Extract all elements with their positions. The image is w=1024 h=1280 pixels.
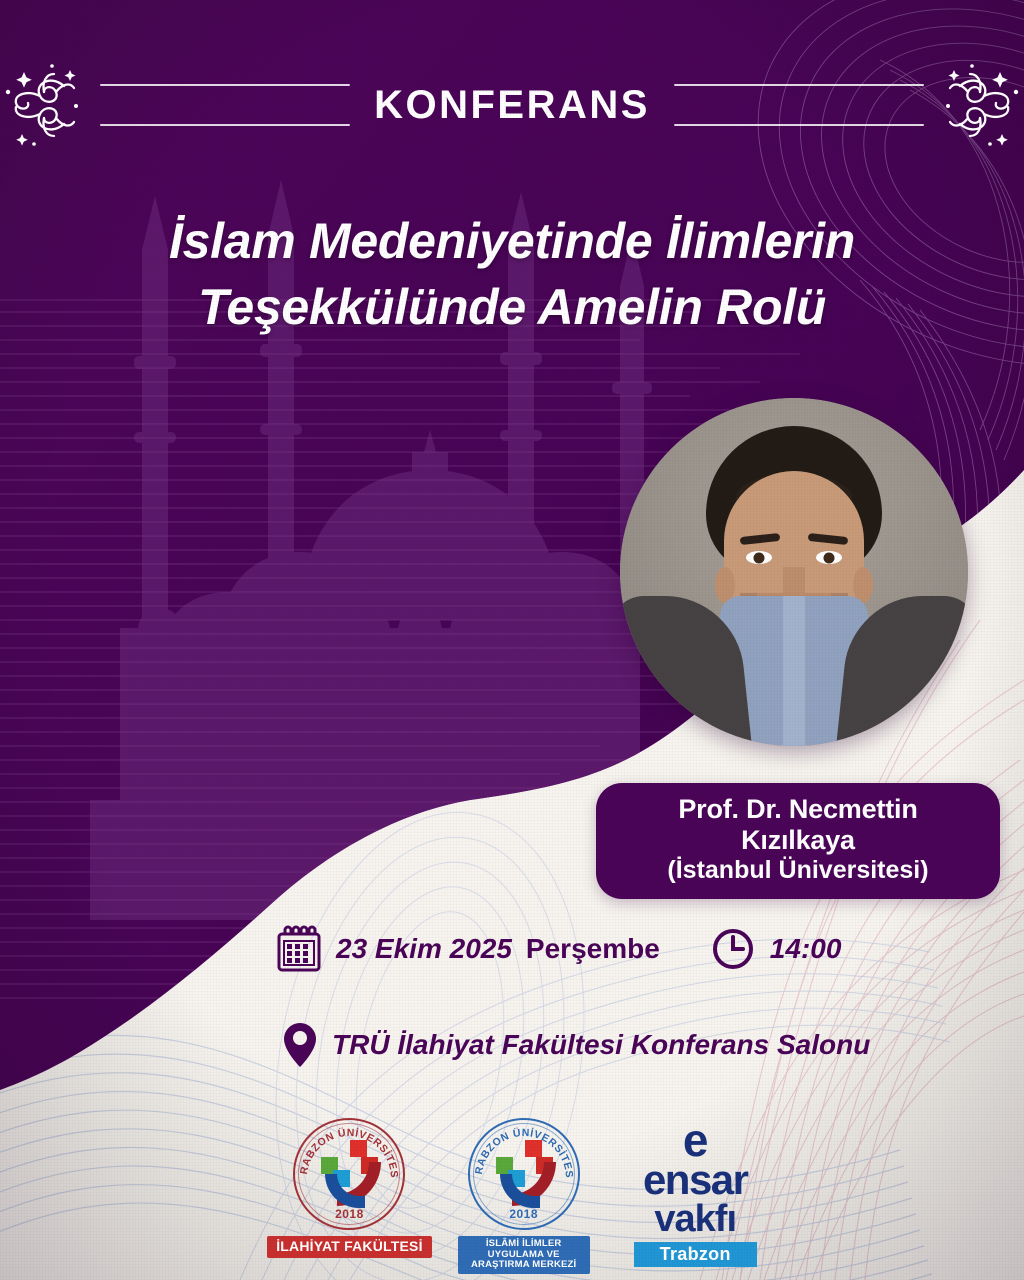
trabzon-emblem bbox=[492, 1140, 556, 1202]
flourish-ornament-icon bbox=[0, 62, 84, 148]
clock-icon bbox=[710, 926, 756, 972]
logo-banner-merkez: İSLÂMİ İLİMLER UYGULAMA VE ARAŞTIRMA MER… bbox=[458, 1236, 590, 1274]
event-weekday: Perşembe bbox=[526, 933, 660, 965]
ensar-mark-icon: e bbox=[683, 1122, 708, 1160]
ensar-name-line2: vakfı bbox=[654, 1200, 736, 1238]
event-time: 14:00 bbox=[770, 933, 842, 965]
ensar-name-line1: ensar bbox=[643, 1160, 748, 1200]
konferans-banner: KONFERANS bbox=[0, 62, 1024, 148]
speaker-name-banner: Prof. Dr. Necmettin Kızılkaya (İstanbul … bbox=[596, 783, 1000, 899]
logo-row: TRABZON ÜNİVERSİTESİ 2018 İLAHİYAT FAKÜL… bbox=[0, 1118, 1024, 1274]
title-line-1: İslam Medeniyetinde İlimlerin bbox=[0, 208, 1024, 274]
konferans-rule-left bbox=[100, 84, 350, 126]
konferans-rule-right bbox=[674, 84, 924, 126]
speaker-portrait bbox=[620, 398, 968, 746]
speaker-affiliation: (İstanbul Üniversitesi) bbox=[620, 856, 976, 886]
flourish-ornament-icon bbox=[940, 62, 1024, 148]
map-pin-icon bbox=[282, 1021, 318, 1069]
trabzon-university-seal: TRABZON ÜNİVERSİTESİ 2018 bbox=[293, 1118, 405, 1230]
logo-banner-line2: UYGULAMA VE ARAŞTIRMA MERKEZİ bbox=[467, 1250, 581, 1271]
venue-row: TRÜ İlahiyat Fakültesi Konferans Salonu bbox=[0, 1021, 1024, 1069]
trabzon-university-seal: TRABZON ÜNİVERSİTESİ 2018 bbox=[468, 1118, 580, 1230]
logo-banner-ilahiyat: İLAHİYAT FAKÜLTESİ bbox=[267, 1236, 431, 1258]
date-time-row: 23 Ekim 2025 Perşembe 14:00 bbox=[0, 925, 1024, 973]
poster-title: İslam Medeniyetinde İlimlerin Teşekkülün… bbox=[0, 208, 1024, 340]
conference-poster: KONFERANS İs bbox=[0, 0, 1024, 1280]
logo-banner-line1: İLAHİYAT FAKÜLTESİ bbox=[276, 1239, 422, 1255]
trabzon-emblem bbox=[317, 1140, 381, 1202]
logo-islami-ilimler-merkezi: TRABZON ÜNİVERSİTESİ 2018 İSLÂMİ İLİMLER… bbox=[458, 1118, 590, 1274]
logo-ensar-vakfi: e ensar vakfı Trabzon bbox=[634, 1118, 757, 1267]
calendar-icon bbox=[276, 925, 322, 973]
logo-ilahiyat-fakultesi: TRABZON ÜNİVERSİTESİ 2018 İLAHİYAT FAKÜL… bbox=[267, 1118, 431, 1258]
event-venue: TRÜ İlahiyat Fakültesi Konferans Salonu bbox=[332, 1029, 870, 1061]
seal-year: 2018 bbox=[293, 1207, 405, 1221]
ensar-city-badge: Trabzon bbox=[634, 1242, 757, 1267]
seal-year: 2018 bbox=[468, 1207, 580, 1221]
speaker-name: Prof. Dr. Necmettin Kızılkaya bbox=[620, 794, 976, 856]
title-line-2: Teşekkülünde Amelin Rolü bbox=[0, 274, 1024, 340]
konferans-label: KONFERANS bbox=[366, 85, 658, 125]
event-date: 23 Ekim 2025 bbox=[336, 933, 512, 965]
event-details: 23 Ekim 2025 Perşembe 14:00 TRÜ İlahiyat… bbox=[0, 925, 1024, 1069]
